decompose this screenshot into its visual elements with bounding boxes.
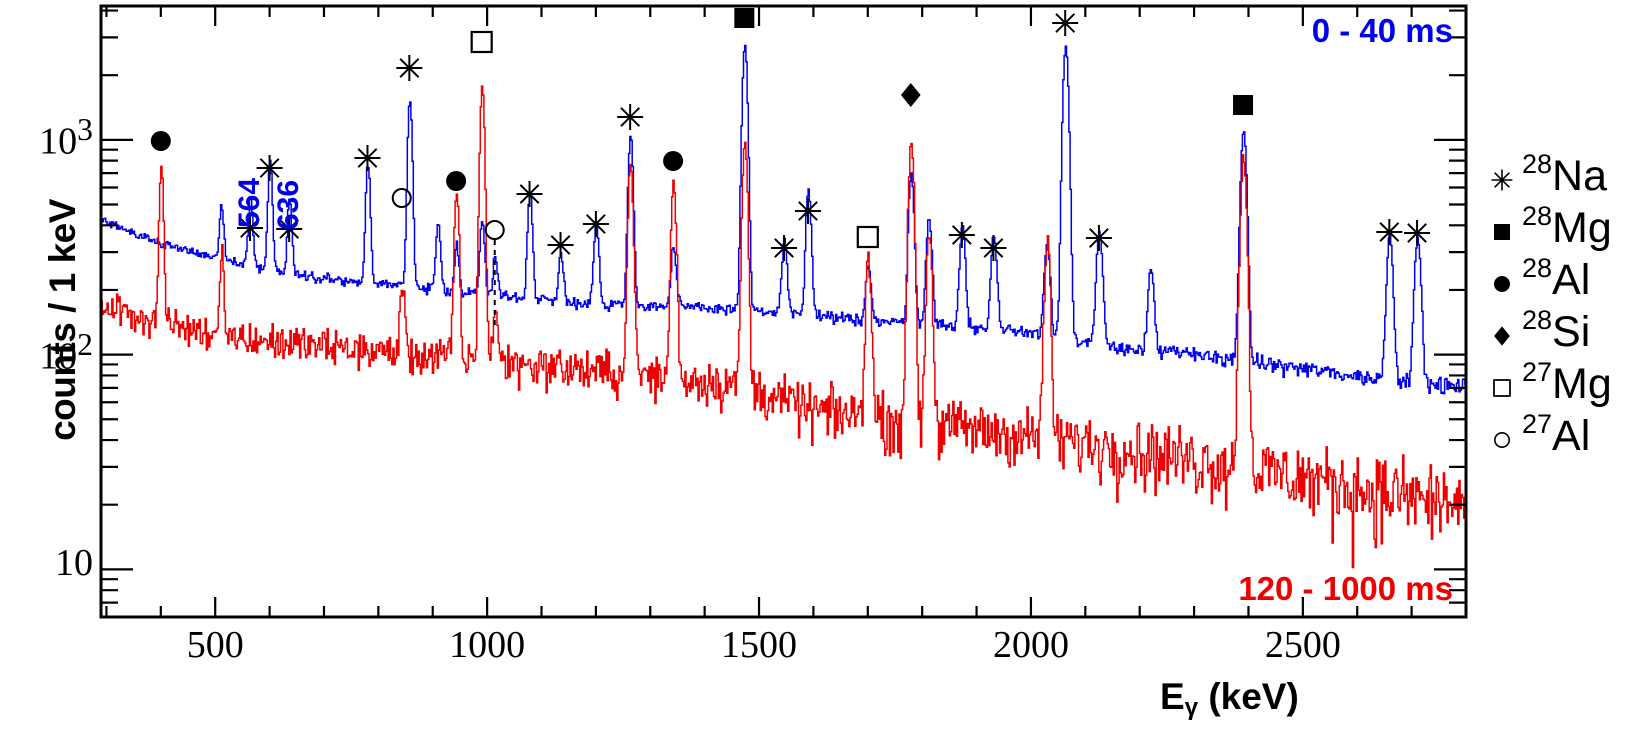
legend-symbol-svg	[1482, 310, 1522, 350]
peak-marker-filled-circle-14	[663, 151, 683, 171]
asterisk-icon	[1482, 154, 1522, 194]
peak-marker-asterisk-12	[583, 211, 609, 237]
square-glyph	[1233, 95, 1253, 115]
legend-mass-number: 27	[1522, 409, 1552, 439]
square-outline-glyph	[1494, 380, 1510, 396]
legend-entry-27Mg: 27Mg	[1482, 356, 1631, 408]
peak-marker-asterisk-5	[396, 55, 422, 81]
legend-label: 28Mg	[1522, 203, 1612, 250]
legend-label: 28Na	[1522, 151, 1607, 198]
legend-entry-28Mg: 28Mg	[1482, 200, 1631, 252]
peak-marker-asterisk-10	[517, 181, 543, 207]
peak-marker-asterisk-11	[548, 232, 574, 258]
legend-label: 28Si	[1522, 307, 1590, 354]
x-tick-label: 1500	[715, 623, 803, 667]
circle-outline-glyph	[486, 221, 504, 239]
x-tick-label: 500	[171, 623, 259, 667]
peak-marker-filled-square-15	[734, 8, 754, 28]
peak-marker-asterisk-26	[1404, 220, 1430, 246]
legend-symbol-svg	[1482, 258, 1522, 298]
legend-mass-number: 28	[1522, 149, 1552, 179]
legend-entry-27Al: 27Al	[1482, 408, 1631, 460]
x-axis-title: Eγ (keV)	[1160, 676, 1299, 722]
legend-mass-number: 28	[1522, 305, 1552, 335]
peak-marker-open-square-8	[472, 32, 492, 52]
circle-glyph	[151, 131, 171, 151]
peak-marker-filled-square-legend-1	[1494, 224, 1510, 240]
circle-outline-glyph	[393, 189, 411, 207]
peak-marker-filled-square-24	[1233, 95, 1253, 115]
y-tick-label: 103	[39, 112, 93, 164]
peak-marker-open-square-18	[858, 227, 878, 247]
peak-marker-asterisk-25	[1376, 219, 1402, 245]
diamond-glyph	[901, 83, 921, 107]
peak-marker-filled-diamond-19	[901, 83, 921, 107]
x-axis-title-unit: (keV)	[1198, 676, 1299, 717]
legend-label: 28Al	[1522, 255, 1590, 302]
peak-marker-asterisk-20	[949, 222, 975, 248]
legend-symbol-svg	[1482, 362, 1522, 402]
legend-element-symbol: Al	[1552, 412, 1590, 460]
legend-mass-number: 28	[1522, 201, 1552, 231]
peak-marker-open-square-legend-4	[1494, 380, 1510, 396]
legend-element-symbol: Na	[1552, 152, 1607, 200]
plot-frame	[101, 6, 1466, 617]
x-axis-title-sub: γ	[1185, 694, 1198, 721]
peak-marker-asterisk-4	[354, 145, 380, 171]
filled-circle-icon	[1482, 258, 1522, 298]
peak-marker-asterisk-16	[771, 235, 797, 261]
peak-marker-open-circle-9	[486, 221, 504, 239]
spectrum-trace-red	[101, 86, 1465, 567]
legend: 28Na28Mg28Al28Si27Mg27Al	[1482, 148, 1631, 460]
legend-entry-28Si: 28Si	[1482, 304, 1631, 356]
x-tick-label: 2500	[1259, 623, 1347, 667]
open-square-icon	[1482, 362, 1522, 402]
square-glyph	[734, 8, 754, 28]
axis-ticks	[101, 6, 1466, 617]
legend-entry-28Al: 28Al	[1482, 252, 1631, 304]
legend-mass-number: 28	[1522, 253, 1552, 283]
circle-outline-glyph	[1495, 433, 1509, 447]
blue-time-window-annotation: 0 - 40 ms	[1312, 12, 1453, 50]
x-axis-title-main: E	[1160, 676, 1185, 717]
legend-element-symbol: Mg	[1552, 360, 1612, 408]
peak-marker-asterisk-22	[1052, 10, 1078, 36]
legend-label: 27Al	[1522, 411, 1590, 458]
legend-symbol-svg	[1482, 154, 1522, 194]
peak-marker-filled-diamond-legend-3	[1494, 326, 1510, 345]
legend-label: 27Mg	[1522, 359, 1612, 406]
peak-marker-filled-circle-7	[446, 171, 466, 191]
peak-marker-asterisk-21	[980, 235, 1006, 261]
legend-element-symbol: Al	[1552, 256, 1590, 304]
peak-marker-filled-circle-legend-2	[1494, 276, 1510, 292]
figure-root: counts / 1 keV Eγ (keV) 5001000150020002…	[0, 0, 1631, 756]
legend-symbol-svg	[1482, 206, 1522, 246]
legend-element-symbol: Mg	[1552, 204, 1612, 252]
y-tick-label: 10	[55, 541, 93, 585]
energy-peak-label: 636	[272, 169, 306, 241]
x-tick-label: 2000	[987, 623, 1075, 667]
open-circle-icon	[1482, 414, 1522, 454]
frame-rect	[101, 6, 1466, 617]
legend-symbol-svg	[1482, 414, 1522, 454]
circle-glyph	[446, 171, 466, 191]
square-outline-glyph	[472, 32, 492, 52]
x-tick-label: 1000	[443, 623, 531, 667]
peak-marker-filled-circle-0	[151, 131, 171, 151]
diamond-glyph	[1494, 326, 1510, 345]
red-time-window-annotation: 120 - 1000 ms	[1238, 570, 1453, 608]
peak-marker-asterisk-13	[617, 104, 643, 130]
peak-marker-asterisk-23	[1086, 225, 1112, 251]
filled-square-icon	[1482, 206, 1522, 246]
circle-glyph	[1494, 276, 1510, 292]
peak-marker-asterisk-legend-0	[1492, 170, 1513, 191]
peak-marker-asterisk-17	[795, 198, 821, 224]
circle-glyph	[663, 151, 683, 171]
filled-diamond-icon	[1482, 310, 1522, 350]
y-tick-label: 102	[39, 327, 93, 379]
square-outline-glyph	[858, 227, 878, 247]
peak-marker-open-circle-6	[393, 189, 411, 207]
square-glyph	[1494, 224, 1510, 240]
legend-mass-number: 27	[1522, 357, 1552, 387]
legend-entry-28Na: 28Na	[1482, 148, 1631, 200]
legend-element-symbol: Si	[1552, 308, 1590, 356]
energy-peak-label: 564	[233, 167, 267, 239]
peak-marker-open-circle-legend-5	[1495, 433, 1509, 447]
